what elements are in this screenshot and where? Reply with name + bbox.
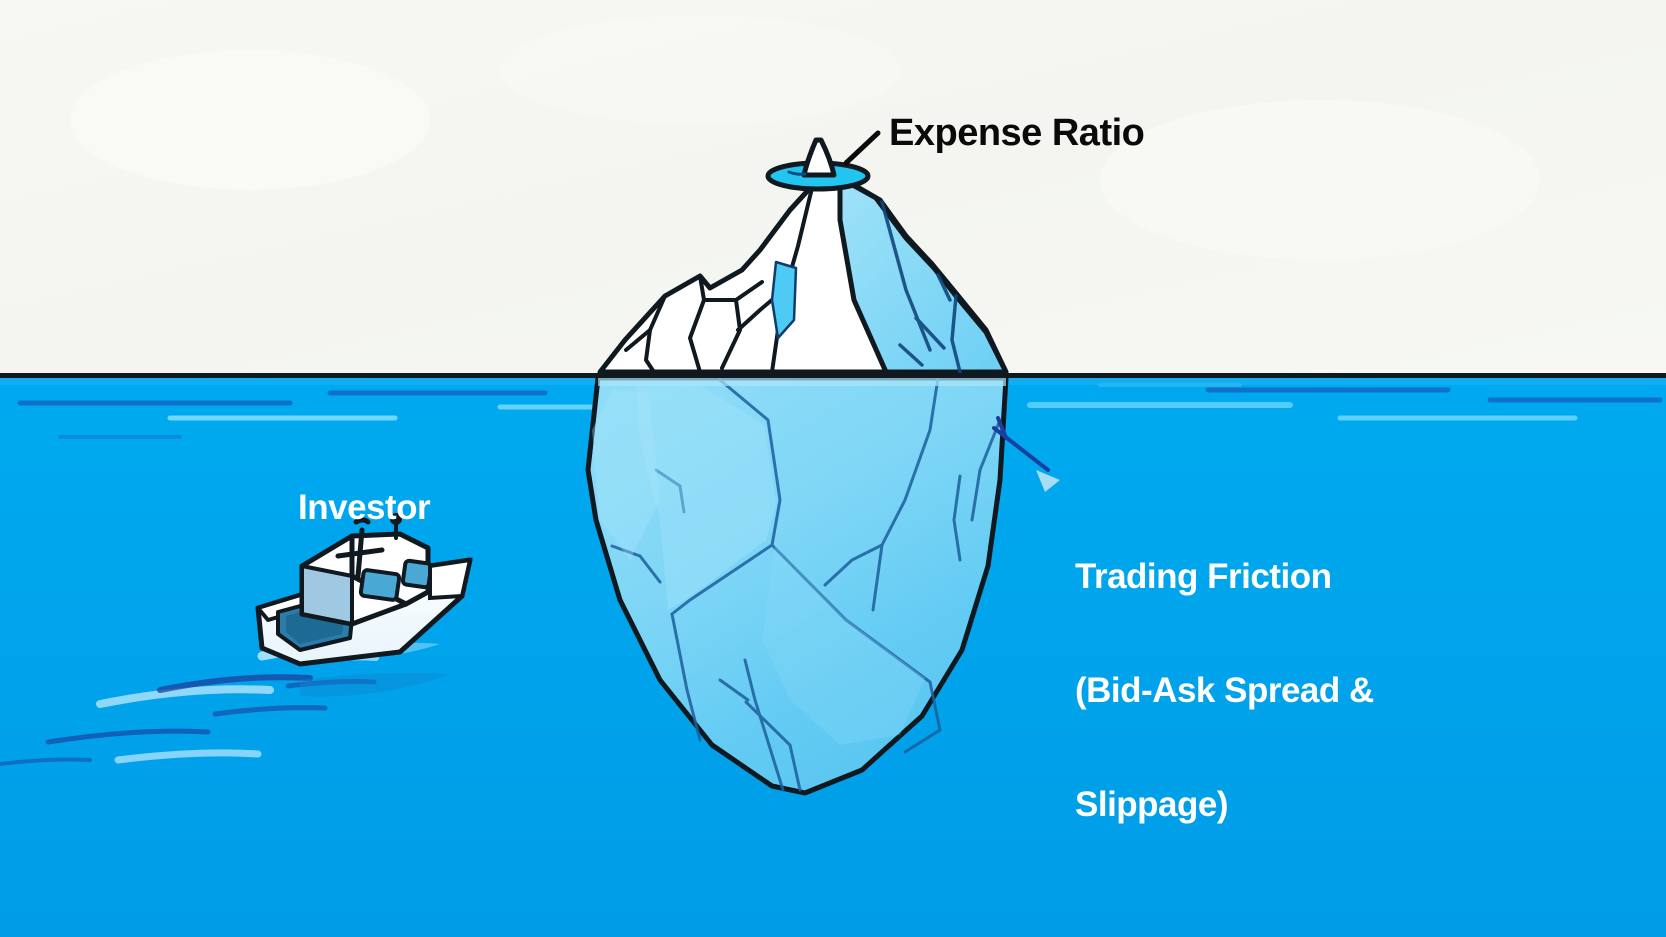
boat-window [402,560,431,587]
iceberg-waterline [598,373,1008,386]
boat-window [360,570,399,601]
illustration-canvas: Expense Ratio Investor Trading Friction … [0,0,1666,937]
iceberg-scene-svg [0,0,1666,937]
